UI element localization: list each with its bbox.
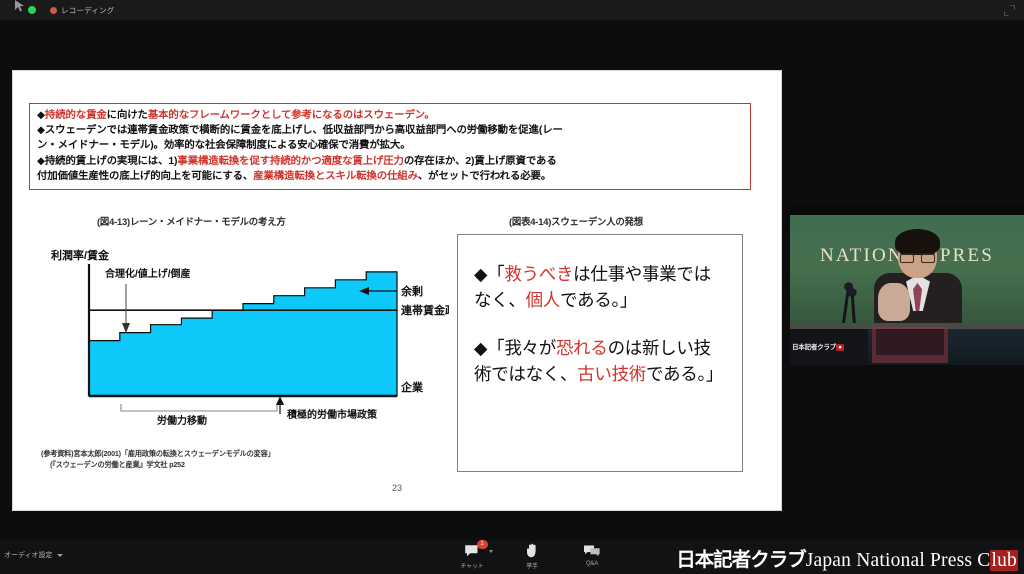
text-run: 基本的なフレームワークとして参考になるのはスウェーデン。 bbox=[148, 110, 435, 121]
footnote-line-2: (『スウェーデンの労働と産業』学文社 p252 bbox=[41, 459, 275, 470]
headline-line: ◆スウェーデンでは連帯賃金政策で横断的に賃金を底上げし、低収益部門から高収益部門… bbox=[37, 123, 743, 138]
text-run: 、がセットで行われる必要。 bbox=[418, 171, 551, 182]
footnote-line-1: (参考資料)宮本太郎(2001)「雇用政策の転換とスウェーデンモデルの変容」 bbox=[41, 449, 275, 458]
figure-right-title: (図表4-14)スウェーデン人の発想 bbox=[509, 214, 643, 228]
headline-textbox: ◆持続的な賃金に向けた基本的なフレームワークとして参考になるのはスウェーデン。 … bbox=[29, 103, 751, 190]
video-lower-third: 日本記者クラブ● bbox=[792, 341, 844, 351]
step-area bbox=[89, 272, 397, 396]
labor-mobility-bracket bbox=[121, 404, 277, 411]
annotation-firms: 企業 bbox=[400, 380, 424, 394]
annotation-active-labor-market-policy: 積極的労働市場政策 bbox=[286, 408, 378, 421]
recording-indicator[interactable]: レコーディング bbox=[50, 5, 114, 16]
slide-page-number: 23 bbox=[13, 483, 781, 493]
text-run: ◆「 bbox=[474, 264, 504, 284]
rationalization-arrow-head bbox=[122, 323, 130, 333]
text-run: 付加価値生産性の底上げ的向上を可能にする、 bbox=[37, 171, 253, 182]
headline-line: ン・メイドナー・モデル)。効率的な社会保障制度による安心確保で消費が拡大。 bbox=[37, 138, 743, 153]
text-run: 恐れる bbox=[556, 338, 608, 358]
speaker-glasses bbox=[900, 253, 935, 261]
shared-slide: ◆持続的な賃金に向けた基本的なフレームワークとして参考になるのはスウェーデン。 … bbox=[12, 70, 782, 511]
quote-paragraph: ◆「救うべきは仕事や事業ではなく、個人である。」 bbox=[474, 261, 726, 313]
connection-status-dot bbox=[28, 6, 36, 14]
text-run: 救うべき bbox=[504, 264, 573, 284]
text-run: 事業構造転換を促す持続的かつ適度な賃上げ圧力 bbox=[177, 156, 403, 167]
meeting-controls: 1 チャット 挙手 bbox=[455, 543, 609, 570]
press-club-en-1: Japan National Press C bbox=[806, 550, 991, 571]
audio-settings-label: オーディオ設定 bbox=[4, 550, 53, 560]
chevron-up-icon[interactable] bbox=[489, 550, 493, 553]
chart-svg: 利潤率/賃金 合理化/値上げ/倒産 余剰 連帯賃金政策 企業 bbox=[49, 246, 449, 436]
text-run: 古い技術 bbox=[577, 364, 646, 384]
headline-line: 付加価値生産性の底上げ的向上を可能にする、産業構造転換とスキル転換の仕組み、がセ… bbox=[37, 169, 743, 184]
text-run: ◆「我々が bbox=[474, 338, 556, 358]
slide-footnote: (参考資料)宮本太郎(2001)「雇用政策の転換とスウェーデンモデルの変容」 (… bbox=[41, 448, 275, 470]
headline-line: ◆持続的な賃金に向けた基本的なフレームワークとして参考になるのはスウェーデン。 bbox=[37, 108, 743, 123]
chat-bubble-icon: 1 bbox=[464, 543, 481, 559]
text-run: 持続的な賃金 bbox=[45, 110, 107, 121]
cursor-arrow-icon bbox=[14, 0, 28, 13]
text-run: 産業構造転換とスキル転換の仕組み bbox=[253, 171, 418, 182]
speaker-hair bbox=[895, 229, 940, 255]
expand-fullscreen-icon[interactable] bbox=[1003, 4, 1016, 17]
press-club-en-2: lub bbox=[990, 550, 1018, 571]
qa-button[interactable]: Q&A bbox=[575, 543, 609, 567]
headline-line: ◆持続的賃上げの実現には、1)事業構造転換を促す持続的かつ適度な賃上げ圧力の存在… bbox=[37, 154, 743, 169]
almp-arrow-head bbox=[276, 396, 284, 405]
text-run: ◆持続的賃上げの実現には、1) bbox=[37, 156, 177, 167]
quote-paragraph: ◆「我々が恐れるのは新しい技術ではなく、古い技術である。」 bbox=[474, 335, 726, 387]
annotation-labor-mobility: 労働力移動 bbox=[157, 414, 207, 427]
meeting-bottom-bar: オーディオ設定 1 チャット bbox=[0, 540, 1024, 574]
text-run: である。」 bbox=[560, 290, 637, 310]
speaker-video-tile[interactable]: NATIONAL PRES 日本記者クラブ● bbox=[790, 205, 1024, 365]
chart-ylabel: 利潤率/賃金 bbox=[51, 248, 110, 262]
text-run: である。」 bbox=[646, 364, 723, 384]
text-run: に向けた bbox=[107, 110, 148, 121]
speaker-hand bbox=[878, 283, 910, 321]
raise-hand-label: 挙手 bbox=[526, 561, 538, 570]
text-run: ◆スウェーデンでは連帯賃金政策で横断的に賃金を底上げし、低収益部門から高収益部門… bbox=[37, 125, 563, 136]
laptop-screen bbox=[876, 329, 944, 355]
qa-label: Q&A bbox=[586, 561, 598, 567]
raise-hand-icon bbox=[525, 543, 539, 559]
chat-label: チャット bbox=[460, 561, 483, 570]
meeting-top-bar: レコーディング bbox=[0, 0, 1024, 20]
swedish-mindset-quote-box: ◆「救うべきは仕事や事業ではなく、個人である。」 ◆「我々が恐れるのは新しい技術… bbox=[457, 234, 743, 472]
chevron-up-icon[interactable] bbox=[57, 554, 63, 557]
text-run: の存在ほか、2)賃上げ原資である bbox=[404, 156, 557, 167]
annotation-rationalization: 合理化/値上げ/倒産 bbox=[104, 267, 191, 280]
text-run: 個人 bbox=[526, 290, 560, 310]
press-club-jp: 日本記者クラブ bbox=[676, 550, 806, 571]
recording-dot-icon bbox=[50, 7, 57, 14]
chat-button[interactable]: 1 チャット bbox=[455, 543, 489, 570]
text-run: ◆ bbox=[37, 110, 45, 121]
chat-unread-badge: 1 bbox=[477, 540, 488, 549]
raise-hand-button[interactable]: 挙手 bbox=[515, 543, 549, 570]
rehn-meidner-step-chart: 利潤率/賃金 合理化/値上げ/倒産 余剰 連帯賃金政策 企業 bbox=[49, 246, 449, 436]
figure-left-title: (図4-13)レーン・メイドナー・モデルの考え方 bbox=[97, 214, 286, 228]
annotation-surplus: 余剰 bbox=[400, 284, 423, 298]
press-club-branding: 日本記者クラブJapan National Press Club bbox=[676, 543, 1018, 572]
lower-third-badge: ● bbox=[836, 344, 844, 351]
audio-settings-button[interactable]: オーディオ設定 bbox=[4, 550, 63, 560]
chart-step-series bbox=[89, 272, 397, 396]
lower-third-text: 日本記者クラブ bbox=[792, 344, 836, 351]
recording-label: レコーディング bbox=[61, 5, 114, 16]
annotation-solidaristic-wage: 連帯賃金政策 bbox=[401, 303, 449, 317]
qa-bubble-icon bbox=[583, 543, 601, 559]
zoom-meeting-window: レコーディング ◆持続的な賃金に向けた基本的なフレームワークとして参考になるのは… bbox=[0, 0, 1024, 574]
text-run: ン・メイドナー・モデル)。効率的な社会保障制度による安心確保で消費が拡大。 bbox=[37, 140, 411, 151]
